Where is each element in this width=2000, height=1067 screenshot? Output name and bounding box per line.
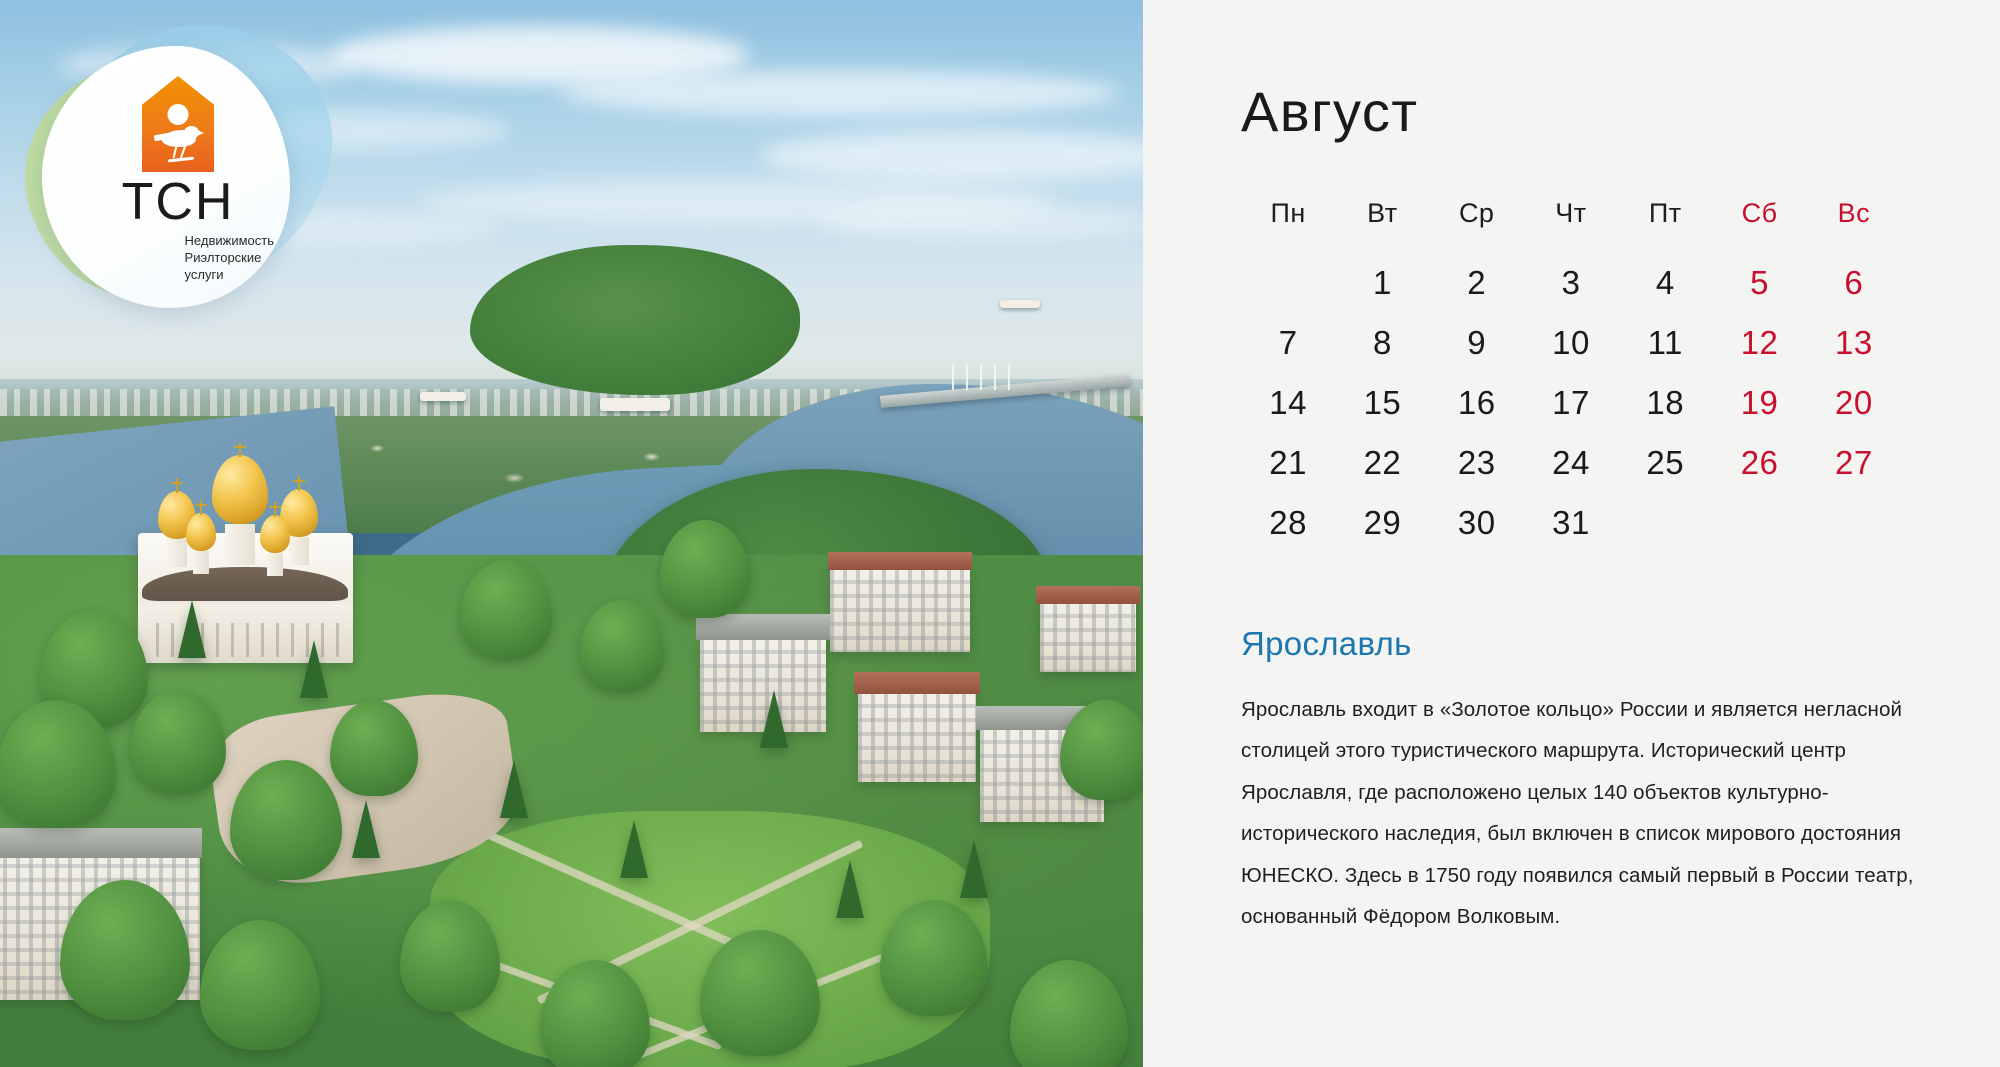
dome-drum bbox=[289, 537, 309, 566]
day-cell-empty bbox=[1807, 493, 1901, 553]
conifer-tree bbox=[620, 820, 648, 878]
city-description: Ярославль входит в «Золотое кольцо» Росс… bbox=[1241, 689, 1928, 937]
day-cell[interactable]: 5 bbox=[1712, 253, 1806, 313]
day-cell[interactable]: 21 bbox=[1241, 433, 1335, 493]
boat-mast bbox=[994, 364, 996, 390]
day-cell[interactable]: 15 bbox=[1335, 373, 1429, 433]
birdhouse-icon: ® bbox=[142, 76, 214, 172]
day-cell[interactable]: 29 bbox=[1335, 493, 1429, 553]
conifer-tree bbox=[500, 760, 528, 818]
weekday-header: Пт bbox=[1618, 198, 1712, 253]
day-cell[interactable]: 31 bbox=[1524, 493, 1618, 553]
historic-building bbox=[858, 690, 976, 782]
registered-mark: ® bbox=[218, 150, 226, 162]
weekday-header: Вс bbox=[1807, 198, 1901, 253]
day-cell[interactable]: 17 bbox=[1524, 373, 1618, 433]
month-title: Август bbox=[1241, 84, 1928, 140]
weekday-header: Ср bbox=[1430, 198, 1524, 253]
day-cell[interactable]: 27 bbox=[1807, 433, 1901, 493]
weekday-header: Сб bbox=[1712, 198, 1806, 253]
day-cell[interactable]: 13 bbox=[1807, 313, 1901, 373]
weekday-header: Вт bbox=[1335, 198, 1429, 253]
dome-bulb bbox=[212, 455, 268, 524]
historic-building bbox=[1040, 600, 1136, 672]
day-cell[interactable]: 1 bbox=[1335, 253, 1429, 313]
tagline-line-1: Недвижимость bbox=[185, 232, 274, 249]
bird-leg bbox=[173, 146, 178, 158]
conifer-tree bbox=[300, 640, 328, 698]
day-cell[interactable]: 12 bbox=[1712, 313, 1806, 373]
building-roof bbox=[1036, 586, 1140, 604]
conifer-tree bbox=[178, 600, 206, 658]
dome-drum bbox=[267, 553, 283, 576]
day-cell[interactable]: 19 bbox=[1712, 373, 1806, 433]
brand-wordmark: ТСН bbox=[122, 176, 235, 228]
conifer-tree bbox=[760, 690, 788, 748]
building-roof bbox=[828, 552, 972, 570]
day-cell[interactable]: 26 bbox=[1712, 433, 1806, 493]
assumption-cathedral bbox=[120, 455, 380, 670]
day-cell-empty bbox=[1618, 493, 1712, 553]
weekday-header: Пн bbox=[1241, 198, 1335, 253]
dome-drum bbox=[167, 539, 187, 568]
orthodox-cross-icon bbox=[239, 442, 241, 457]
cloud bbox=[820, 205, 1143, 239]
boat-mast bbox=[980, 364, 982, 390]
building-windows bbox=[858, 690, 976, 782]
tsn-logo: ® ТСН Недвижимость Риэлторские услуги bbox=[26, 18, 346, 318]
tagline-line-3: услуги bbox=[185, 266, 274, 283]
day-cell[interactable]: 4 bbox=[1618, 253, 1712, 313]
building-roof bbox=[0, 828, 202, 858]
golden-dome-main bbox=[212, 455, 268, 559]
day-cell[interactable]: 3 bbox=[1524, 253, 1618, 313]
boat bbox=[420, 392, 466, 401]
day-cell[interactable]: 10 bbox=[1524, 313, 1618, 373]
day-cell[interactable]: 11 bbox=[1618, 313, 1712, 373]
day-cell[interactable]: 6 bbox=[1807, 253, 1901, 313]
day-cell[interactable]: 2 bbox=[1430, 253, 1524, 313]
day-cell[interactable]: 20 bbox=[1807, 373, 1901, 433]
boat-mast bbox=[952, 364, 954, 390]
day-cell[interactable]: 9 bbox=[1430, 313, 1524, 373]
weekday-header: Чт bbox=[1524, 198, 1618, 253]
city-photo: ® ТСН Недвижимость Риэлторские услуги bbox=[0, 0, 1143, 1067]
boat bbox=[600, 398, 670, 411]
orthodox-cross-icon bbox=[176, 478, 178, 493]
boat bbox=[1000, 300, 1040, 308]
bird-icon bbox=[154, 126, 204, 156]
conifer-tree bbox=[352, 800, 380, 858]
dome-drum bbox=[225, 524, 254, 566]
day-cell[interactable]: 24 bbox=[1524, 433, 1618, 493]
boat-mast bbox=[1008, 364, 1010, 390]
city-title: Ярославль bbox=[1241, 625, 1928, 663]
building-windows bbox=[830, 566, 970, 652]
day-cell-empty bbox=[1712, 493, 1806, 553]
day-cell[interactable]: 16 bbox=[1430, 373, 1524, 433]
day-cell[interactable]: 7 bbox=[1241, 313, 1335, 373]
dome-drum bbox=[193, 551, 209, 574]
day-cell-empty bbox=[1241, 253, 1335, 313]
calendar-grid: ПнВтСрЧтПтСбВс12345678910111213141516171… bbox=[1241, 198, 1901, 553]
calendar-page: ® ТСН Недвижимость Риэлторские услуги Ав… bbox=[0, 0, 2000, 1067]
day-cell[interactable]: 28 bbox=[1241, 493, 1335, 553]
building-windows bbox=[1040, 600, 1136, 672]
apartment-block bbox=[830, 566, 970, 652]
conifer-tree bbox=[836, 860, 864, 918]
birdhouse-hole bbox=[168, 104, 189, 125]
boat-mast bbox=[966, 364, 968, 390]
tagline-line-2: Риэлторские bbox=[185, 249, 274, 266]
logo-content: ® ТСН Недвижимость Риэлторские услуги bbox=[78, 76, 278, 291]
day-cell[interactable]: 25 bbox=[1618, 433, 1712, 493]
day-cell[interactable]: 8 bbox=[1335, 313, 1429, 373]
orthodox-cross-icon bbox=[200, 500, 202, 515]
day-cell[interactable]: 30 bbox=[1430, 493, 1524, 553]
brand-tagline: Недвижимость Риэлторские услуги bbox=[185, 232, 278, 283]
calendar-panel: Август ПнВтСрЧтПтСбВс1234567891011121314… bbox=[1143, 0, 2000, 1067]
bird-beak bbox=[197, 130, 204, 136]
orthodox-cross-icon bbox=[298, 476, 300, 491]
cloud bbox=[560, 70, 1120, 116]
bird-leg bbox=[180, 146, 186, 158]
far-green-bank bbox=[470, 245, 800, 395]
orthodox-cross-icon bbox=[274, 502, 276, 517]
day-cell[interactable]: 14 bbox=[1241, 373, 1335, 433]
day-cell[interactable]: 23 bbox=[1430, 433, 1524, 493]
conifer-tree bbox=[960, 840, 988, 898]
building-roof bbox=[854, 672, 980, 694]
day-cell[interactable]: 22 bbox=[1335, 433, 1429, 493]
day-cell[interactable]: 18 bbox=[1618, 373, 1712, 433]
building-roof bbox=[696, 614, 830, 640]
